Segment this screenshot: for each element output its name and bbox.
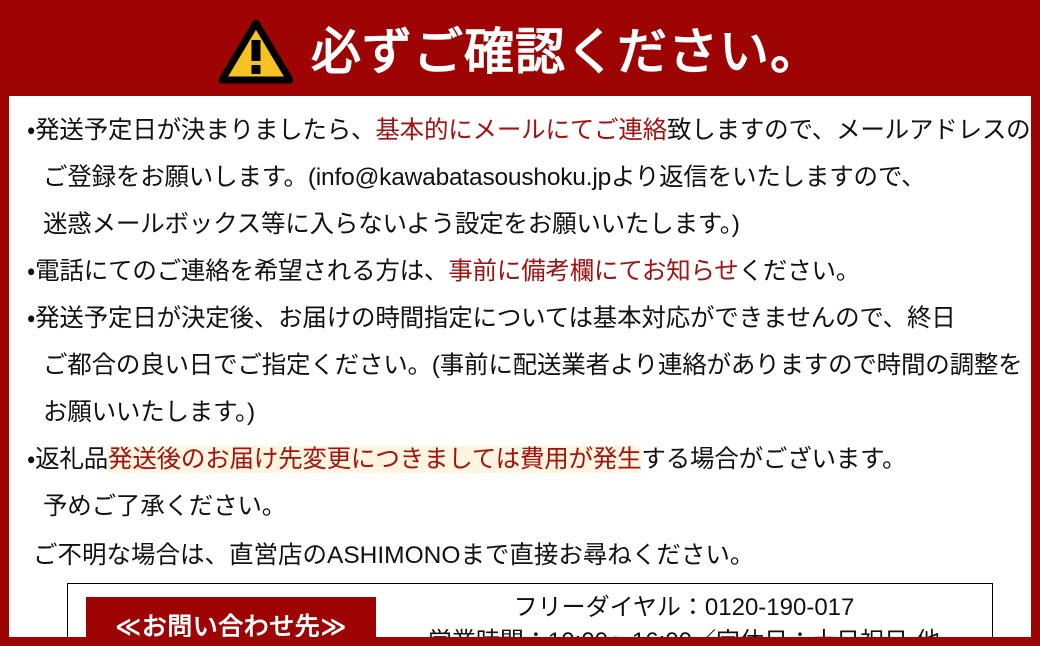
contact-box: ≪お問い合わせ先≫ フリーダイヤル：0120-190-017 営業時間：10:0… [67,583,993,646]
notice-line: ご登録をお願いします。(info@kawabatasoushoku.jpより返信… [27,159,1011,196]
notice-line: ・発送予定日が決まりましたら、基本的にメールにてご連絡致しますので、メールアドレ… [27,112,1011,149]
freedial-line: フリーダイヤル：0120-190-017 [376,591,992,625]
notice-line: ・発送予定日が決定後、お届けの時間指定については基本対応ができませんので、終日 [27,300,1011,337]
notice-line: ご都合の良い日でご指定ください。(事前に配送業者より連絡がありますので時間の調整… [27,347,1011,384]
notice-line: 予めご了承ください。 [27,488,1011,525]
closing-note: ご不明な場合は、直営店のASHIMONOまで直接お尋ねください。 [33,539,1011,573]
contact-label-badge: ≪お問い合わせ先≫ [86,597,376,646]
notice-line: ・返礼品発送後のお届け先変更につきましては費用が発生する場合がございます。 [27,441,1011,478]
text-segment: ・電話にてのご連絡を希望される方は、 [27,258,448,285]
notice-item: ・発送予定日が決まりましたら、基本的にメールにてご連絡致しますので、メールアドレ… [27,112,1011,243]
notice-line: お願いいたします。) [27,394,1011,431]
notice-item: ・発送予定日が決定後、お届けの時間指定については基本対応ができませんので、終日 … [27,300,1011,431]
text-segment: ください。 [739,258,861,285]
notice-header: 必ずご確認ください。 [8,8,1032,96]
business-hours-line: 営業時間：10:00〜16:00／定休日：土日祝日・他 [376,625,992,646]
notice-line: ・電話にてのご連絡を希望される方は、事前に備考欄にてお知らせください。 [27,253,1011,290]
contact-details: フリーダイヤル：0120-190-017 営業時間：10:00〜16:00／定休… [376,591,992,646]
page-title: 必ずご確認ください。 [311,27,821,77]
text-segment: ・発送予定日が決まりましたら、 [27,117,375,144]
notice-item: ・返礼品発送後のお届け先変更につきましては費用が発生する場合がございます。 予め… [27,441,1011,525]
notice-body: ・発送予定日が決まりましたら、基本的にメールにてご連絡致しますので、メールアドレ… [9,96,1031,646]
text-segment: ・返礼品 [27,446,108,473]
notice-line: 迷惑メールボックス等に入らないよう設定をお願いいたします。) [27,206,1011,243]
notice-card: 必ずご確認ください。 ・発送予定日が決まりましたら、基本的にメールにてご連絡致し… [0,0,1040,646]
text-segment-red: 事前に備考欄にてお知らせ [448,258,738,285]
text-segment: する場合がございます。 [641,446,906,473]
notice-item: ・電話にてのご連絡を希望される方は、事前に備考欄にてお知らせください。 [27,253,1011,290]
text-segment: 致しますので、メールアドレスの [667,117,1031,144]
warning-triangle-icon [219,20,293,84]
text-segment-red: 基本的にメールにてご連絡 [375,117,667,144]
text-segment-highlighted: 発送後のお届け先変更につきましては費用が発生 [108,446,641,473]
